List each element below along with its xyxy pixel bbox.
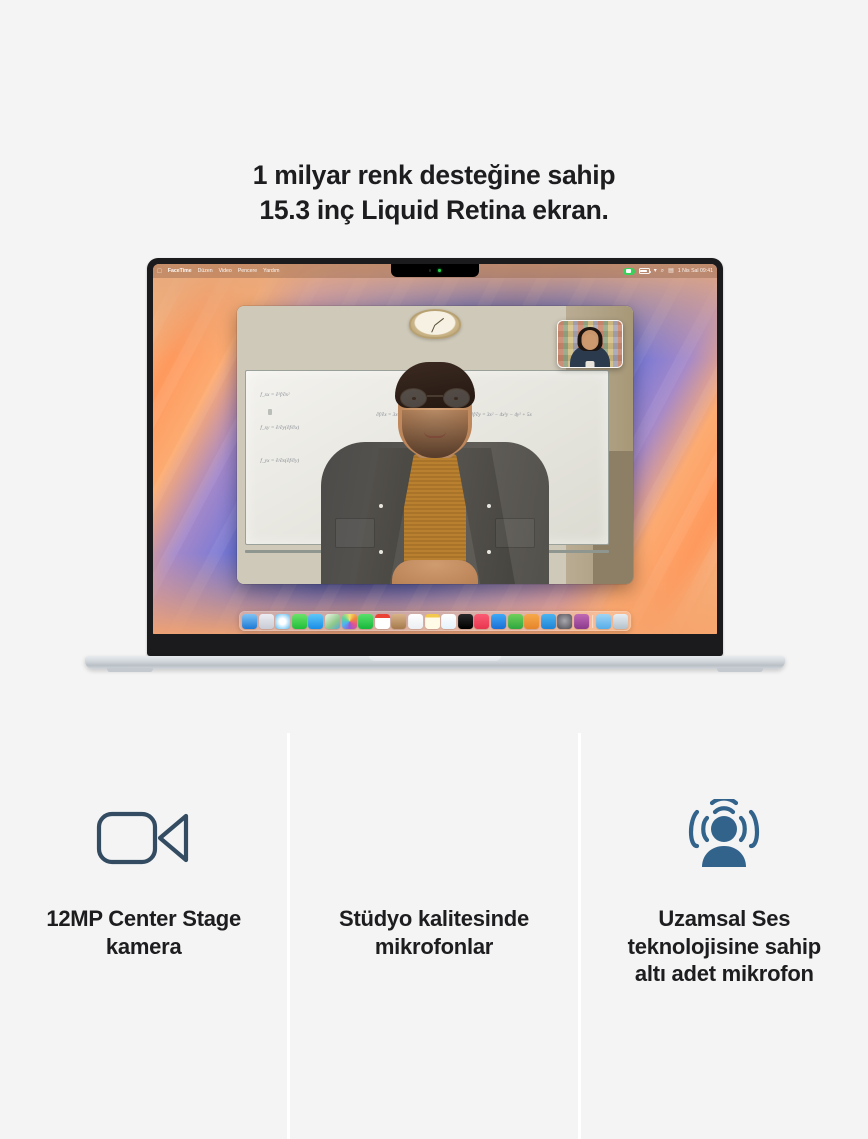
facetime-main-participant — [321, 372, 549, 584]
macos-dock[interactable] — [239, 611, 631, 631]
equation: f_xy = ∂/∂y(∂f/∂x) — [260, 425, 299, 431]
facetime-call-window[interactable]: f_xx = ∂²f/∂x² f_xy = ∂/∂y(∂f/∂x) f_yx =… — [237, 306, 633, 584]
jacket-pocket-right — [495, 518, 535, 548]
laptop-foot-left — [107, 668, 153, 672]
feature-title-line-3: altı adet mikrofon — [635, 961, 814, 986]
facetime-pip-thumbnail[interactable] — [557, 320, 623, 368]
feature-card-title: Stüdyo kalitesinde mikrofonlar — [339, 905, 529, 960]
feature-title-line-1: Uzamsal Ses — [658, 906, 790, 931]
feature-card-title: 12MP Center Stage kamera — [46, 905, 241, 960]
messages-icon[interactable] — [292, 614, 307, 629]
display-notch — [391, 264, 479, 277]
laptop-base — [85, 656, 785, 669]
page-title-line-2: 15.3 inç Liquid Retina ekran. — [0, 193, 868, 228]
pip-participant-face — [584, 334, 597, 349]
apple-tv-icon[interactable] — [458, 614, 473, 629]
safari-icon[interactable] — [275, 614, 290, 629]
camera-dot-icon — [429, 269, 431, 271]
pages-icon[interactable] — [524, 614, 539, 629]
menu-item-app-name[interactable]: FaceTime — [168, 268, 192, 274]
participant-glasses — [400, 388, 470, 408]
analog-wall-clock-icon — [409, 309, 461, 339]
pip-participant-collar — [586, 361, 595, 367]
jacket-pocket-left — [335, 518, 375, 548]
notes-icon[interactable] — [425, 614, 440, 629]
app-store-icon[interactable] — [491, 614, 506, 629]
finder-icon[interactable] — [242, 614, 257, 629]
page-title: 1 milyar renk desteğine sahip 15.3 inç L… — [0, 158, 868, 228]
laptop-display-bezel:  FaceTime Düzen Video Pencere Yardım ▾ — [153, 264, 717, 634]
spotlight-search-icon[interactable]: ⌕ — [661, 268, 664, 274]
menu-item-yardim[interactable]: Yardım — [263, 268, 279, 274]
feature-card-camera: 12MP Center Stage kamera — [0, 733, 287, 1139]
mail-icon[interactable] — [308, 614, 323, 629]
menu-bar-clock[interactable]: 1 Nis Sal 09:41 — [678, 268, 713, 274]
trash-icon[interactable] — [613, 614, 628, 629]
green-recording-led-icon — [438, 269, 440, 271]
feature-cards-row: 12MP Center Stage kamera — [0, 733, 868, 1139]
dock-separator — [592, 615, 593, 628]
screen-recording-indicator-icon[interactable] — [623, 268, 635, 275]
contacts-icon[interactable] — [391, 614, 406, 629]
feature-title-line-2: kamera — [106, 934, 182, 959]
maps-icon[interactable] — [325, 614, 340, 629]
participant-hands — [392, 560, 478, 584]
macbook-air-device:  FaceTime Düzen Video Pencere Yardım ▾ — [85, 258, 785, 683]
freeform-icon[interactable] — [441, 614, 456, 629]
macos-screen:  FaceTime Düzen Video Pencere Yardım ▾ — [153, 264, 717, 634]
equation: f_xx = ∂²f/∂x² — [260, 392, 289, 398]
music-icon[interactable] — [474, 614, 489, 629]
facetime-icon[interactable] — [358, 614, 373, 629]
menu-item-video[interactable]: Video — [219, 268, 232, 274]
equation: f_yx = ∂/∂x(∂f/∂y) — [260, 458, 299, 464]
feature-title-line-2: teknolojisine sahip — [628, 934, 821, 959]
menu-bar-status-area: ▾ ⌕ ▤ 1 Nis Sal 09:41 — [623, 268, 713, 275]
control-center-icon[interactable]: ▤ — [668, 268, 674, 274]
page-title-line-1: 1 milyar renk desteğine sahip — [253, 160, 615, 190]
feature-title-line-1: 12MP Center Stage — [46, 906, 241, 931]
reminders-icon[interactable] — [408, 614, 423, 629]
participant-smile — [424, 431, 446, 438]
apple-logo-icon[interactable]:  — [157, 268, 162, 275]
feature-title-line-2: mikrofonlar — [375, 934, 493, 959]
launchpad-icon[interactable] — [259, 614, 274, 629]
battery-icon[interactable] — [639, 268, 650, 274]
keynote-icon[interactable] — [541, 614, 556, 629]
laptop-foot-right — [717, 668, 763, 672]
product-feature-page: 1 milyar renk desteğine sahip 15.3 inç L… — [0, 0, 868, 1139]
numbers-icon[interactable] — [508, 614, 523, 629]
calendar-icon[interactable] — [375, 614, 390, 629]
feature-card-title: Uzamsal Ses teknolojisine sahip altı ade… — [628, 905, 821, 988]
system-settings-icon[interactable] — [557, 614, 572, 629]
audio-waveform-icon — [401, 795, 467, 881]
downloads-folder-icon[interactable] — [596, 614, 611, 629]
menu-item-pencere[interactable]: Pencere — [238, 268, 257, 274]
menu-item-duzen[interactable]: Düzen — [198, 268, 213, 274]
feature-title-line-1: Stüdyo kalitesinde — [339, 906, 529, 931]
feature-card-microphones: Stüdyo kalitesinde mikrofonlar — [290, 733, 577, 1139]
spatial-audio-person-icon — [682, 795, 766, 881]
hero-section: 1 milyar renk desteğine sahip 15.3 inç L… — [0, 0, 868, 733]
podcasts-icon[interactable] — [574, 614, 589, 629]
laptop-lid:  FaceTime Düzen Video Pencere Yardım ▾ — [147, 258, 723, 656]
video-camera-icon — [96, 795, 192, 881]
feature-card-spatial-audio: Uzamsal Ses teknolojisine sahip altı ade… — [581, 733, 868, 1139]
wifi-icon[interactable]: ▾ — [654, 268, 657, 274]
photos-icon[interactable] — [342, 614, 357, 629]
